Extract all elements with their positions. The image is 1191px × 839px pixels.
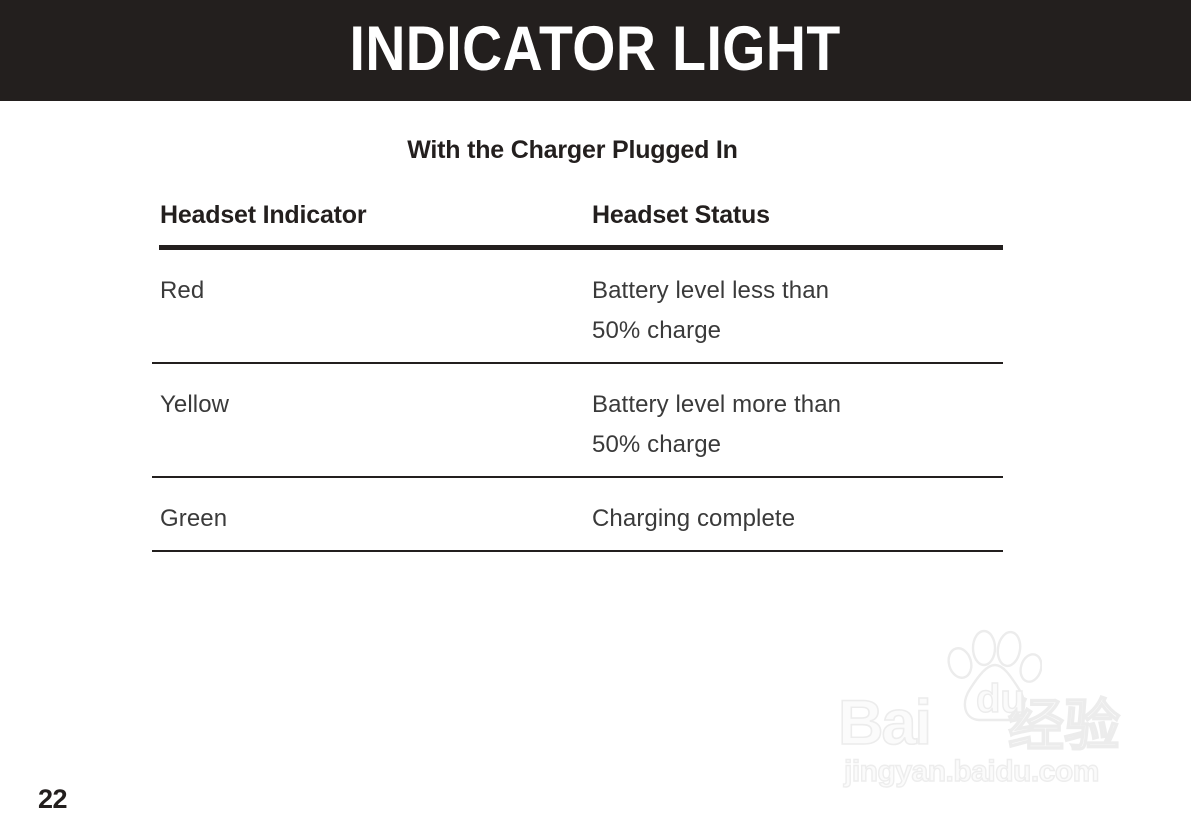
- table-row: Red Battery level less than 50% charge: [152, 250, 1003, 362]
- cell-status-line: Charging complete: [592, 499, 1003, 539]
- table-header-row: Headset Indicator Headset Status: [152, 200, 1003, 245]
- page-header-bar: INDICATOR LIGHT: [0, 0, 1191, 101]
- table-row: Green Charging complete: [152, 478, 1003, 550]
- table-row: Yellow Battery level more than 50% charg…: [152, 364, 1003, 476]
- table-row-divider: [152, 550, 1003, 552]
- cell-status-line: Battery level less than: [592, 271, 1003, 311]
- cell-status: Battery level less than 50% charge: [592, 271, 1003, 351]
- cell-status-line: 50% charge: [592, 311, 1003, 351]
- cell-indicator: Red: [152, 271, 592, 351]
- cell-indicator: Yellow: [152, 385, 592, 465]
- section-subtitle: With the Charger Plugged In: [0, 136, 1145, 165]
- baidu-watermark: Bai 经验 du jingyan.baidu.com: [838, 655, 1138, 800]
- column-header-headset-indicator: Headset Indicator: [152, 200, 592, 245]
- indicator-light-table: Headset Indicator Headset Status Red Bat…: [152, 200, 1003, 552]
- column-header-headset-status: Headset Status: [592, 200, 1003, 245]
- cell-status-line: Battery level more than: [592, 385, 1003, 425]
- watermark-paw-letters: du: [976, 677, 1025, 721]
- page-title: INDICATOR LIGHT: [350, 18, 841, 81]
- cell-status: Charging complete: [592, 499, 1003, 539]
- watermark-url: jingyan.baidu.com: [844, 755, 1099, 789]
- cell-status: Battery level more than 50% charge: [592, 385, 1003, 465]
- watermark-logo: Bai 经验: [838, 685, 1120, 755]
- cell-status-line: 50% charge: [592, 425, 1003, 465]
- page-number: 22: [38, 784, 67, 815]
- cell-indicator: Green: [152, 499, 592, 539]
- watermark-brand-suffix: 经验: [1008, 699, 1120, 755]
- watermark-brand-text: Bai: [838, 692, 930, 755]
- baidu-paw-icon: du: [946, 627, 1042, 727]
